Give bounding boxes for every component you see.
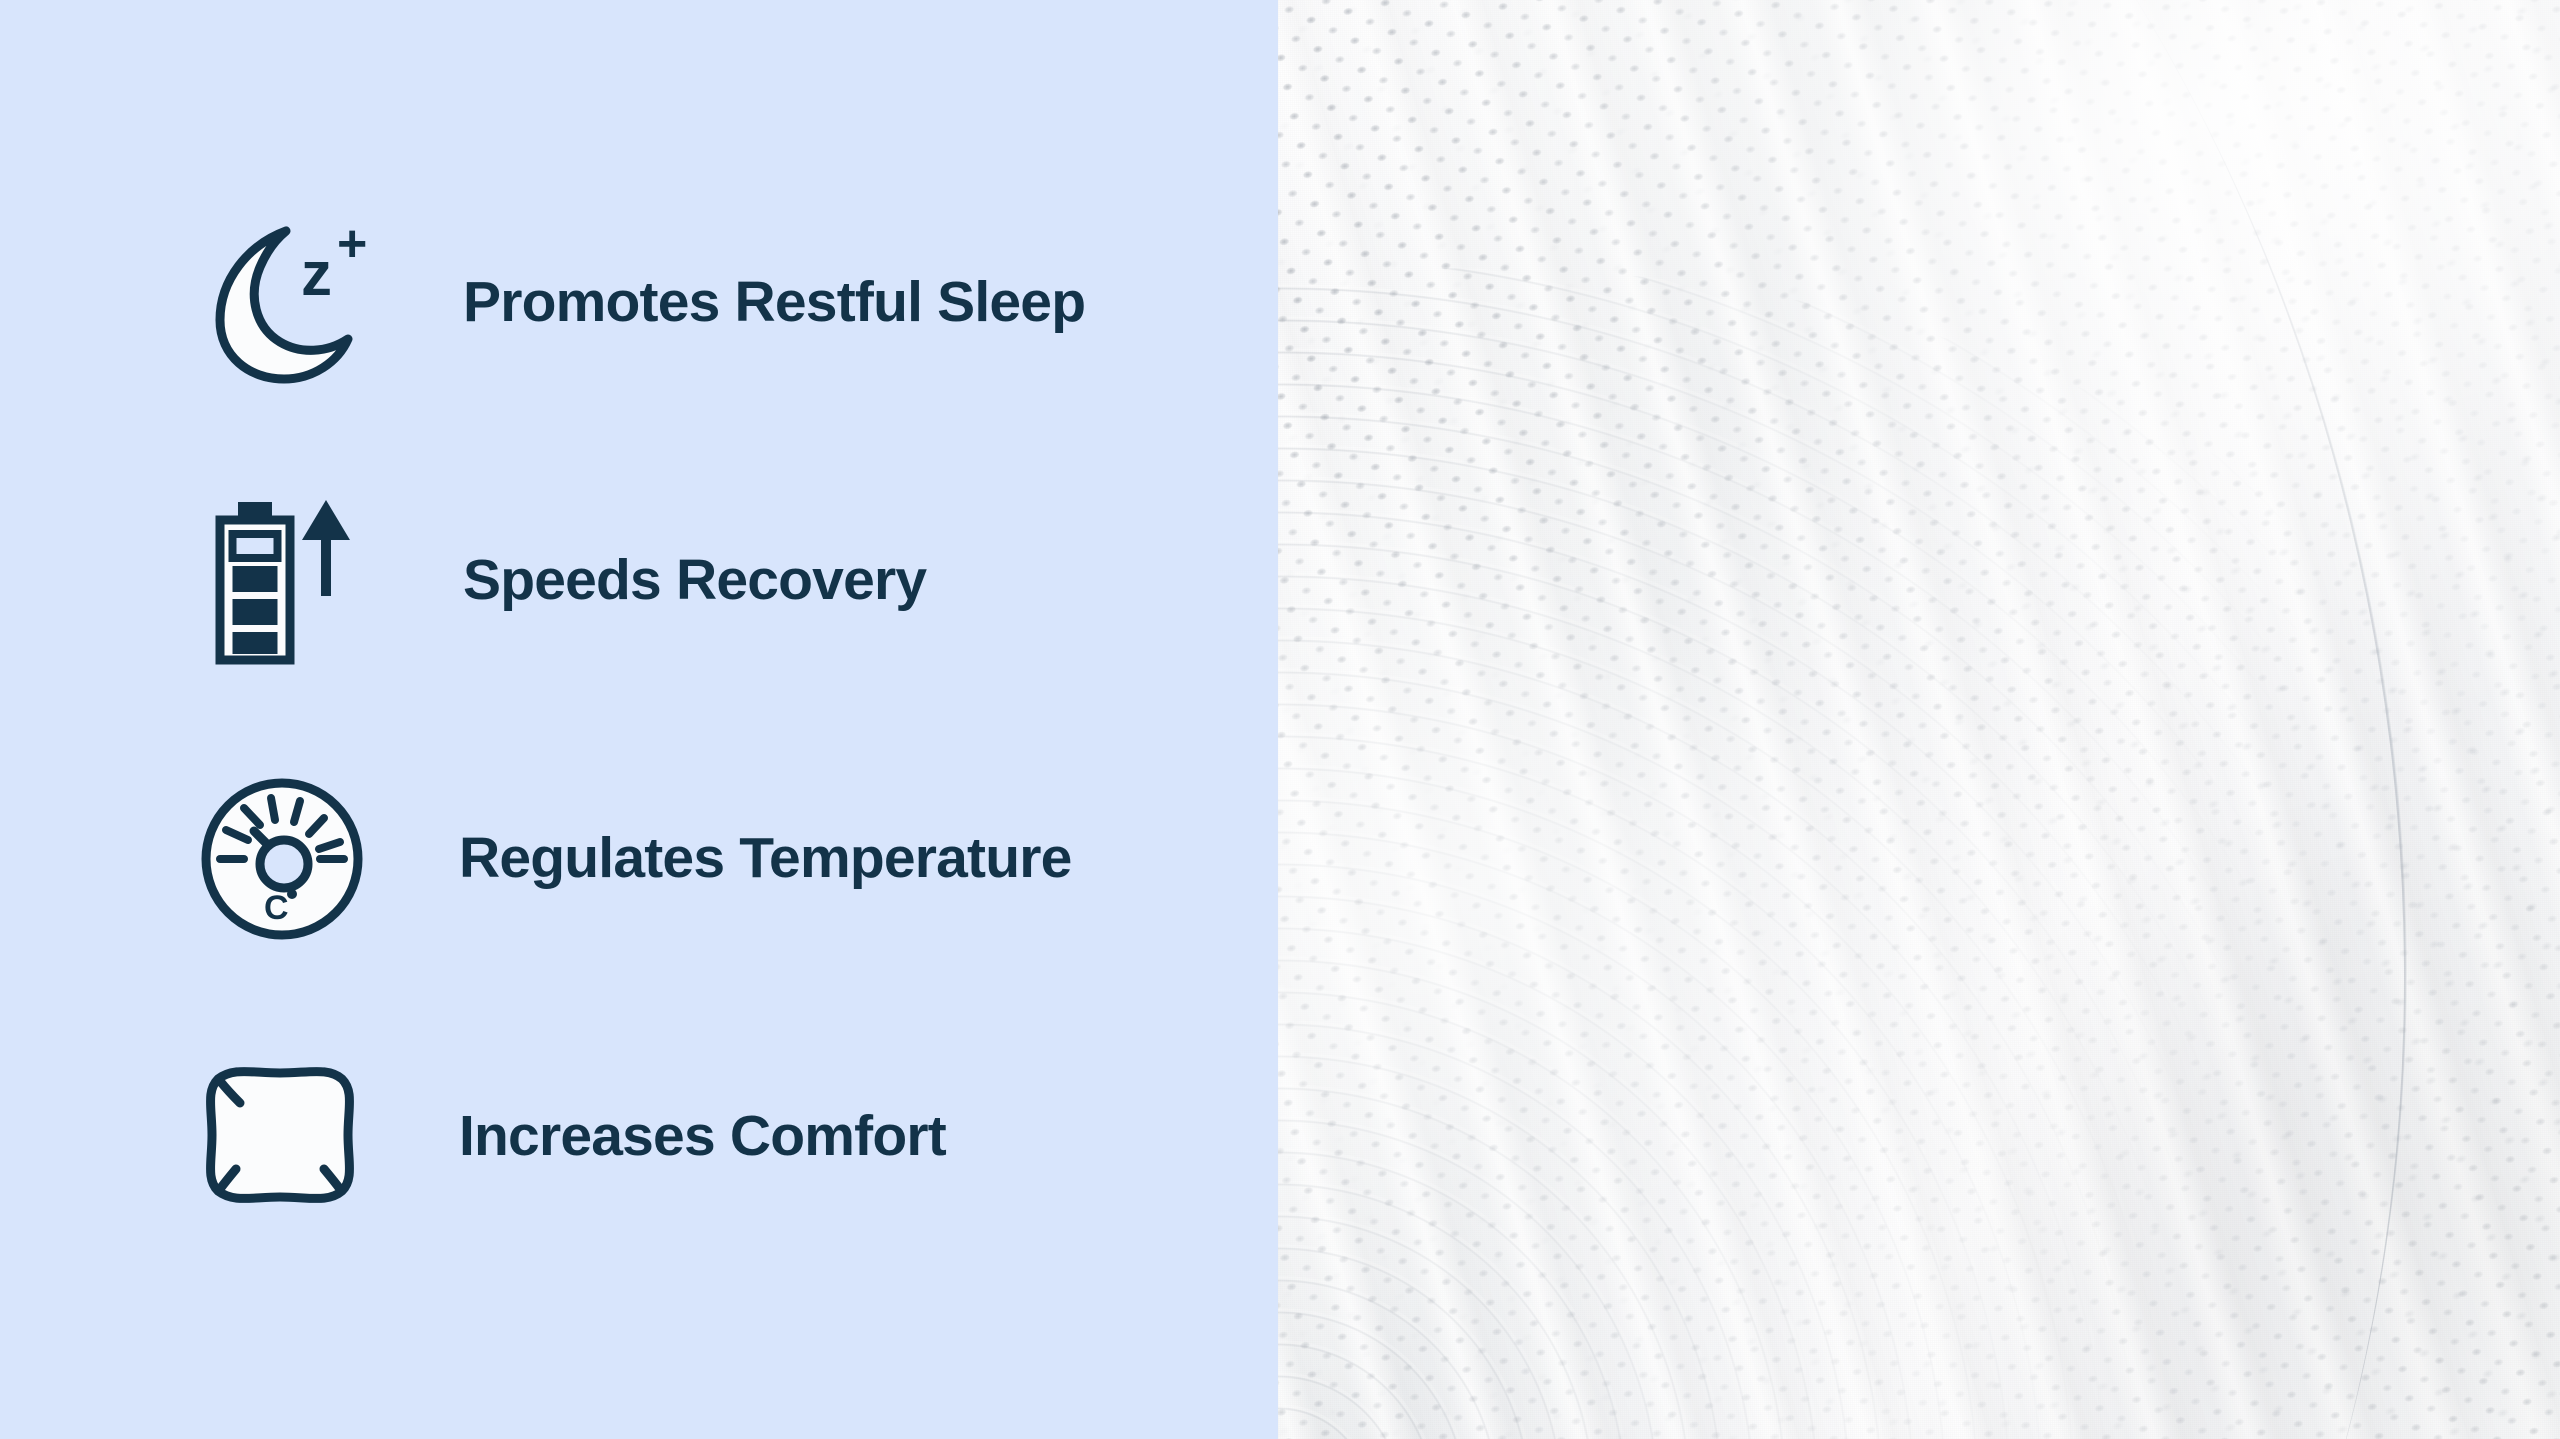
moon-z-letter: z bbox=[301, 240, 332, 309]
product-fabric-photo bbox=[1278, 0, 2560, 1439]
gauge-degree-dot bbox=[287, 889, 297, 899]
benefits-panel: z + Promotes Restful Sleep bbox=[0, 0, 1278, 1439]
benefit-item-promotes-restful-sleep: z + Promotes Restful Sleep bbox=[200, 218, 1278, 388]
benefit-label-promotes-restful-sleep: Promotes Restful Sleep bbox=[463, 274, 1085, 331]
benefit-label-increases-comfort: Increases Comfort bbox=[459, 1108, 946, 1165]
benefit-item-regulates-temperature: C Regulates Temperature bbox=[200, 774, 1278, 944]
benefits-hero: z + Promotes Restful Sleep bbox=[0, 0, 2560, 1439]
temperature-gauge-icon: C bbox=[200, 774, 375, 944]
benefit-item-increases-comfort: Increases Comfort bbox=[200, 1052, 1278, 1222]
fabric-sheen-layer bbox=[1278, 0, 2560, 1439]
benefit-label-speeds-recovery: Speeds Recovery bbox=[463, 552, 926, 609]
benefits-list: z + Promotes Restful Sleep bbox=[0, 0, 1278, 1439]
pillow-icon bbox=[200, 1052, 375, 1222]
benefit-item-speeds-recovery: Speeds Recovery bbox=[200, 496, 1278, 666]
moon-plus-glyph: + bbox=[337, 215, 367, 273]
moon-z-plus-icon: z + bbox=[200, 218, 375, 388]
battery-up-arrow-icon bbox=[200, 496, 375, 666]
benefit-label-regulates-temperature: Regulates Temperature bbox=[459, 830, 1072, 887]
gauge-unit-letter: C bbox=[264, 889, 289, 927]
